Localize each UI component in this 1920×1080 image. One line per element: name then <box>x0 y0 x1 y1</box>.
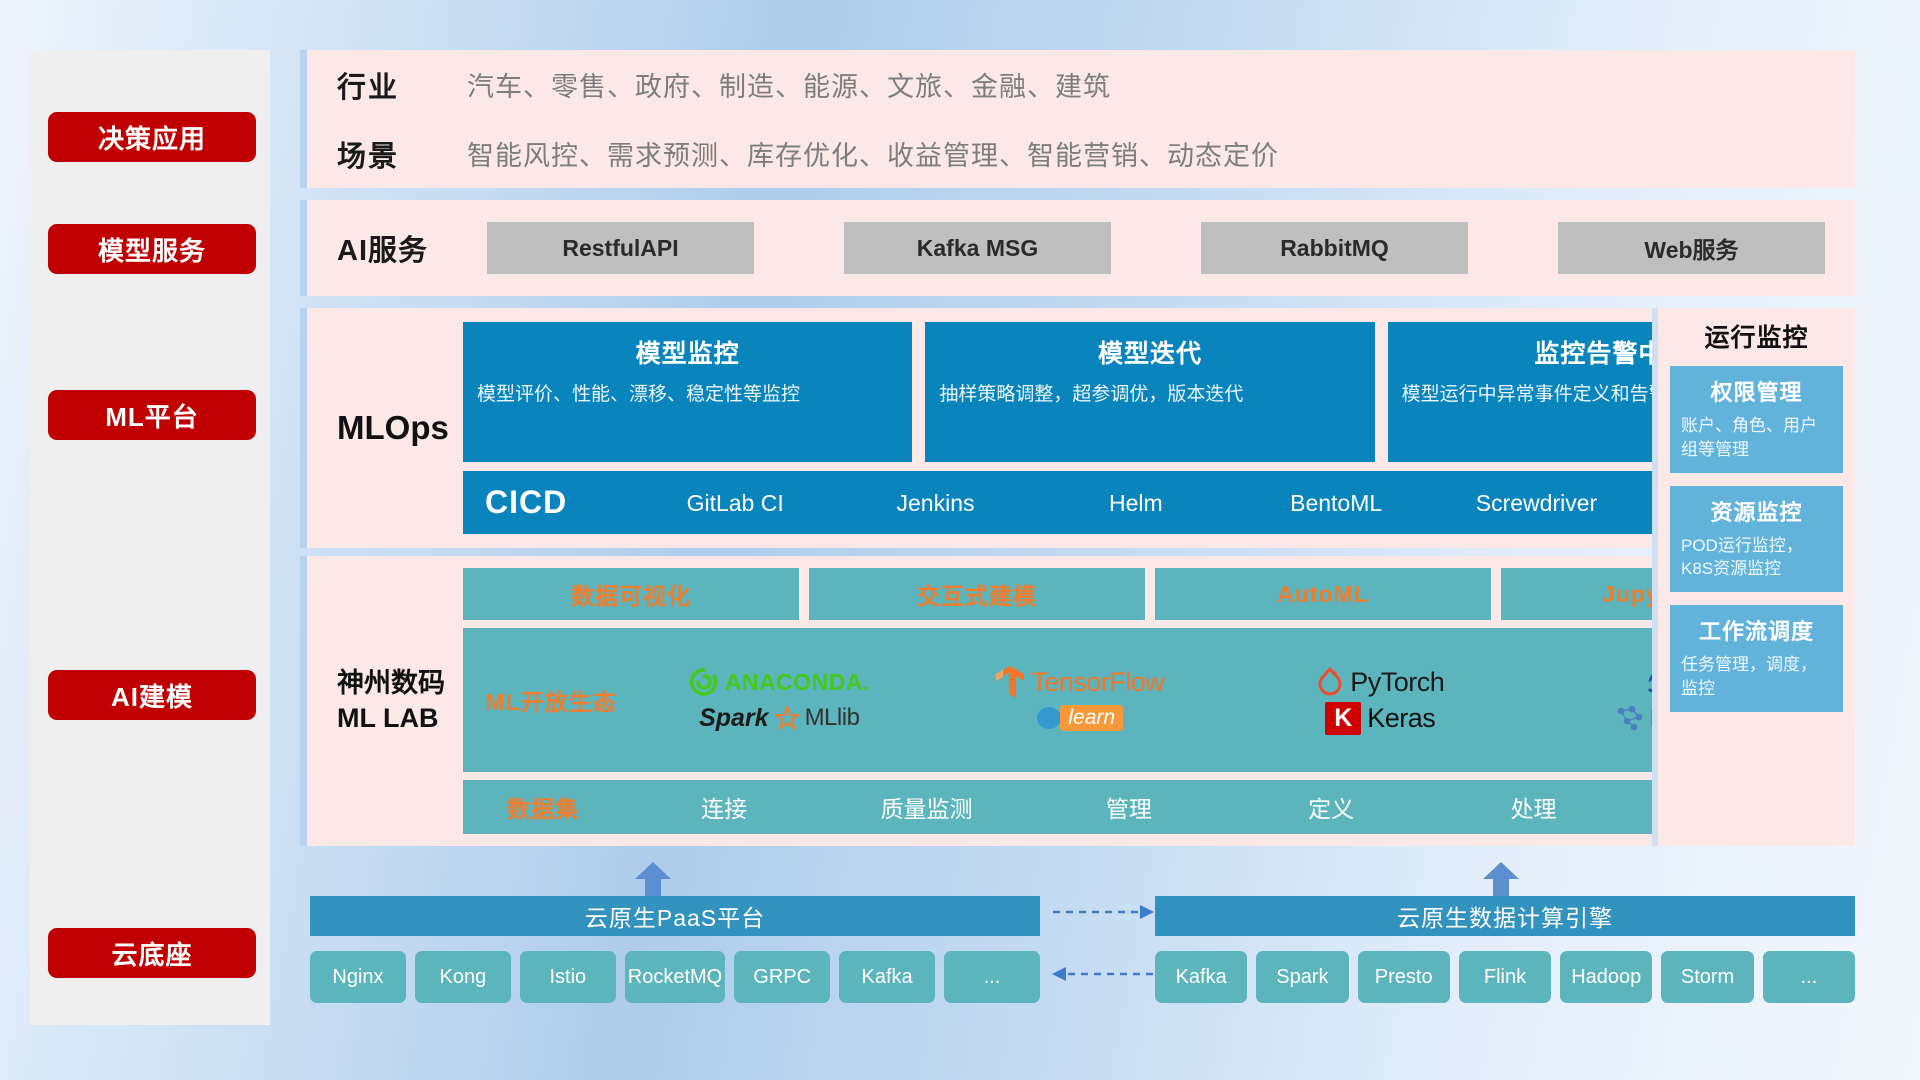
monitor-card-resource[interactable]: 资源监控 POD运行监控，K8S资源监控 <box>1670 486 1843 593</box>
rail-item-model-service[interactable]: 模型服务 <box>48 224 256 274</box>
pytorch-logo-text: PyTorch <box>1350 667 1444 698</box>
cicd-item-screwdriver[interactable]: Screwdriver <box>1436 489 1636 515</box>
monitor-panel-title: 运行监控 <box>1670 318 1843 354</box>
mlops-band: MLOps 模型监控 模型评价、性能、漂移、稳定性等监控 模型迭代 抽样策略调整… <box>300 308 1855 548</box>
cicd-item-jenkins[interactable]: Jenkins <box>835 489 1035 515</box>
engine-tag-presto[interactable]: Presto <box>1358 951 1450 1003</box>
ml-lab-band: 神州数码 ML LAB 数据可视化 交互式建模 AutoML JupyterLa… <box>300 556 1855 846</box>
paas-tag-istio[interactable]: Istio <box>520 951 616 1003</box>
pytorch-flame-icon <box>1316 666 1344 698</box>
paas-tag-rocketmq[interactable]: RocketMQ <box>625 951 725 1003</box>
cicd-item-helm[interactable]: Helm <box>1036 489 1236 515</box>
engine-tag-kafka[interactable]: Kafka <box>1155 951 1247 1003</box>
ml-lab-label-line1: 神州数码 <box>337 666 463 701</box>
rail-item-label: 云底座 <box>111 935 192 972</box>
dataset-item-quality-monitor[interactable]: 质量监测 <box>825 790 1027 824</box>
data-compute-engine-column: 云原生数据计算引擎 Kafka Spark Presto Flink Hadoo… <box>1155 896 1855 1003</box>
engine-tag-spark[interactable]: Spark <box>1256 951 1348 1003</box>
rail-item-ml-platform[interactable]: ML平台 <box>48 390 256 440</box>
paas-tag-grpc[interactable]: GRPC <box>734 951 830 1003</box>
eco-label: ML开放生态 <box>471 683 631 717</box>
engine-tag-more[interactable]: ... <box>1763 951 1855 1003</box>
mlops-card-model-monitoring[interactable]: 模型监控 模型评价、性能、漂移、稳定性等监控 <box>463 322 912 462</box>
card-desc: POD运行监控，K8S资源监控 <box>1681 534 1832 582</box>
service-box-web-service[interactable]: Web服务 <box>1558 222 1825 274</box>
rail-item-ai-modeling[interactable]: AI建模 <box>48 670 256 720</box>
ml-open-ecosystem-panel: ML开放生态 ANACONDA. <box>463 628 1837 772</box>
scikit-learn-logo: learn <box>1036 705 1123 731</box>
tensorflow-mark-icon <box>995 665 1025 699</box>
anaconda-logo: ANACONDA. <box>689 667 870 697</box>
scene-key: 场景 <box>337 133 467 175</box>
tensorflow-logo: TensorFlow <box>995 665 1164 699</box>
card-title: 权限管理 <box>1681 375 1832 407</box>
mllib-logo-text: MLlib <box>805 704 860 732</box>
anaconda-ring-icon <box>689 667 719 697</box>
rail-item-label: ML平台 <box>105 397 199 434</box>
mlops-card-model-iteration[interactable]: 模型迭代 抽样策略调整，超参调优，版本迭代 <box>925 322 1374 462</box>
card-desc: 抽样策略调整，超参调优，版本迭代 <box>939 382 1360 409</box>
dataset-row: 数据集 连接 质量监测 管理 定义 处理 加载 <box>463 780 1837 834</box>
runtime-monitoring-panel: 运行监控 权限管理 账户、角色、用户组等管理 资源监控 POD运行监控，K8S资… <box>1652 308 1855 846</box>
scene-value: 智能风控、需求预测、库存优化、收益管理、智能营销、动态定价 <box>467 134 1279 173</box>
scene-row: 场景 智能风控、需求预测、库存优化、收益管理、智能营销、动态定价 <box>307 119 1855 188</box>
cicd-bar: CICD GitLab CI Jenkins Helm BentoML Scre… <box>463 471 1837 534</box>
cicd-item-gitlab-ci[interactable]: GitLab CI <box>635 489 835 515</box>
cloud-base-section: 云原生PaaS平台 Nginx Kong Istio RocketMQ GRPC… <box>300 862 1855 1025</box>
card-desc: 账户、角色、用户组等管理 <box>1681 414 1832 462</box>
ai-service-label: AI服务 <box>337 227 467 269</box>
spark-mllib-logo: Spark MLlib <box>699 704 859 733</box>
paas-platform-column: 云原生PaaS平台 Nginx Kong Istio RocketMQ GRPC… <box>310 896 1040 1003</box>
rail-item-label: AI建模 <box>111 677 193 714</box>
left-rail-panel: 决策应用 模型服务 ML平台 AI建模 云底座 <box>30 50 270 1025</box>
ai-service-band: AI服务 RestfulAPI Kafka MSG RabbitMQ Web服务 <box>300 200 1855 296</box>
tool-box-automl[interactable]: AutoML <box>1155 568 1491 620</box>
industry-scene-band: 行业 汽车、零售、政府、制造、能源、文旅、金融、建筑 场景 智能风控、需求预测、… <box>300 50 1855 188</box>
dataset-item-process[interactable]: 处理 <box>1432 790 1634 824</box>
paas-platform-bar[interactable]: 云原生PaaS平台 <box>310 896 1040 936</box>
ml-lab-label-line2: ML LAB <box>337 701 463 736</box>
engine-tag-storm[interactable]: Storm <box>1661 951 1753 1003</box>
data-compute-engine-bar[interactable]: 云原生数据计算引擎 <box>1155 896 1855 936</box>
rail-item-cloud-base[interactable]: 云底座 <box>48 928 256 978</box>
paas-tag-nginx[interactable]: Nginx <box>310 951 406 1003</box>
keras-logo-text: Keras <box>1367 703 1435 734</box>
tool-box-data-visualization[interactable]: 数据可视化 <box>463 568 799 620</box>
dataset-label: 数据集 <box>463 790 623 824</box>
spark-star-icon <box>775 706 799 730</box>
bidirectional-exchange-arrows-icon <box>1048 902 1158 1012</box>
cicd-title: CICD <box>485 484 635 521</box>
service-box-rabbitmq[interactable]: RabbitMQ <box>1201 222 1468 274</box>
industry-key: 行业 <box>337 64 467 106</box>
engine-tag-hadoop[interactable]: Hadoop <box>1560 951 1652 1003</box>
card-title: 模型迭代 <box>939 334 1360 370</box>
service-box-restfulapi[interactable]: RestfulAPI <box>487 222 754 274</box>
networkx-graph-icon <box>1616 705 1644 731</box>
paas-tag-more[interactable]: ... <box>944 951 1040 1003</box>
anaconda-logo-text: ANACONDA. <box>725 669 870 696</box>
monitor-card-workflow[interactable]: 工作流调度 任务管理，调度，监控 <box>1670 605 1843 712</box>
service-box-kafka-msg[interactable]: Kafka MSG <box>844 222 1111 274</box>
scikit-blob-icon <box>1036 705 1062 731</box>
card-title: 模型监控 <box>477 334 898 370</box>
rail-item-label: 决策应用 <box>98 119 206 156</box>
paas-tag-kong[interactable]: Kong <box>415 951 511 1003</box>
rail-item-label: 模型服务 <box>98 231 206 268</box>
rail-item-decision-app[interactable]: 决策应用 <box>48 112 256 162</box>
cicd-item-bentoml[interactable]: BentoML <box>1236 489 1436 515</box>
pytorch-logo: PyTorch <box>1316 666 1444 698</box>
dataset-item-manage[interactable]: 管理 <box>1028 790 1230 824</box>
engine-tag-flink[interactable]: Flink <box>1459 951 1551 1003</box>
dataset-item-define[interactable]: 定义 <box>1230 790 1432 824</box>
dataset-item-connect[interactable]: 连接 <box>623 790 825 824</box>
card-desc: 模型评价、性能、漂移、稳定性等监控 <box>477 382 898 409</box>
spark-wordmark: Spark <box>699 704 768 733</box>
mlops-label: MLOps <box>337 322 463 534</box>
scikit-learn-wordmark: learn <box>1060 705 1123 731</box>
tool-box-interactive-modeling[interactable]: 交互式建模 <box>809 568 1145 620</box>
keras-logo: K Keras <box>1325 702 1435 735</box>
card-title: 资源监控 <box>1681 495 1832 527</box>
industry-value: 汽车、零售、政府、制造、能源、文旅、金融、建筑 <box>467 65 1111 104</box>
keras-mark-icon: K <box>1325 702 1361 735</box>
tensorflow-logo-text: TensorFlow <box>1031 667 1164 698</box>
monitor-card-permission[interactable]: 权限管理 账户、角色、用户组等管理 <box>1670 366 1843 473</box>
card-desc: 任务管理，调度，监控 <box>1681 653 1832 701</box>
ml-lab-label: 神州数码 ML LAB <box>337 568 463 834</box>
card-title: 工作流调度 <box>1681 614 1832 646</box>
paas-tag-kafka[interactable]: Kafka <box>839 951 935 1003</box>
industry-row: 行业 汽车、零售、政府、制造、能源、文旅、金融、建筑 <box>307 50 1855 119</box>
